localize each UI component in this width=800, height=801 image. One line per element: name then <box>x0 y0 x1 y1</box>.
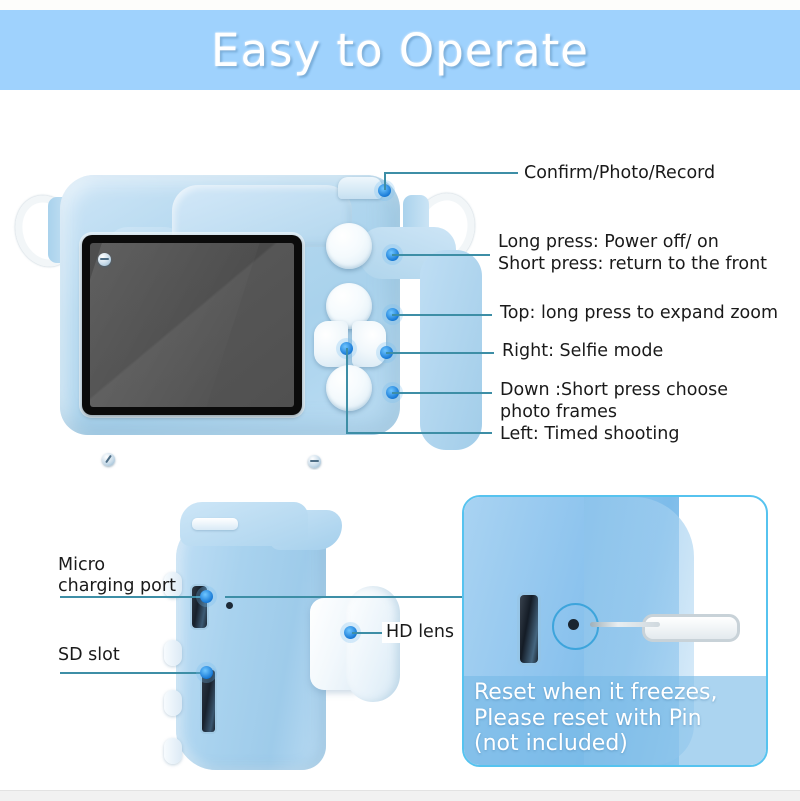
reset-detail-panel: Reset when it freezes, Please reset with… <box>462 495 768 767</box>
side-button-2[interactable] <box>164 640 182 666</box>
body-right-grip <box>420 250 482 450</box>
callout-label-up: Top: long press to expand zoom <box>500 303 778 325</box>
callout-marker-sd-slot <box>200 666 213 679</box>
sd-card-slot <box>202 670 215 732</box>
callout-marker-micro-usb <box>200 590 213 603</box>
screw-bottom-left-icon <box>102 453 115 466</box>
panel-caption-line1: Reset when it freezes, <box>474 680 766 706</box>
callout-label-right: Right: Selfie mode <box>502 341 663 363</box>
camera-back-view <box>8 135 478 455</box>
callout-line-left-v <box>346 348 348 434</box>
panel-caption-line3: (not included) <box>474 731 766 757</box>
panel-caption-line2: Please reset with Pin <box>474 706 766 732</box>
callout-line-left <box>346 432 492 434</box>
callout-label-power-line1: Long press: Power off/ on <box>498 232 767 254</box>
panel-micro-usb-port <box>520 595 538 663</box>
callout-line-shutter-v <box>384 172 386 190</box>
footer-divider <box>0 790 800 801</box>
screw-bottom-right-icon <box>308 455 321 468</box>
callout-line-sd-slot <box>60 672 206 674</box>
camera-side-view <box>150 490 410 790</box>
header-banner: Easy to Operate <box>0 10 800 90</box>
callout-label-power: Long press: Power off/ on Short press: r… <box>498 232 767 276</box>
shutter-button[interactable] <box>338 177 382 199</box>
down-button[interactable] <box>326 365 372 411</box>
callout-label-down-line1: Down :Short press choose <box>500 380 728 402</box>
side-camera-body <box>176 518 326 770</box>
callout-line-power <box>392 254 490 256</box>
reset-pin-tool-icon <box>590 614 740 636</box>
page-title: Easy to Operate <box>211 24 589 77</box>
callout-label-micro-usb-line1: Micro <box>58 555 176 576</box>
callout-line-reset-to-panel <box>225 596 465 598</box>
screw-top-left-icon <box>98 253 111 266</box>
callout-line-right <box>386 352 494 354</box>
callout-line-down <box>392 392 492 394</box>
callout-label-micro-usb-line2: charging port <box>58 576 176 597</box>
callout-label-sd-slot: SD slot <box>58 645 120 666</box>
panel-caption: Reset when it freezes, Please reset with… <box>464 676 766 765</box>
callout-line-micro-usb <box>60 596 206 598</box>
lcd-screen <box>90 243 294 407</box>
callout-label-down: Down :Short press choose photo frames <box>500 380 728 424</box>
callout-label-micro-usb: Micro charging port <box>58 555 176 598</box>
callout-line-shutter <box>384 172 518 174</box>
callout-label-shutter: Confirm/Photo/Record <box>524 163 715 185</box>
callout-label-hd-lens: HD lens <box>382 622 458 643</box>
callout-label-down-line2: photo frames <box>500 402 728 424</box>
side-button-3[interactable] <box>164 690 182 716</box>
reset-hole-icon <box>226 602 233 609</box>
callout-label-power-line2: Short press: return to the front <box>498 254 767 276</box>
side-button-4[interactable] <box>164 738 182 764</box>
callout-label-left: Left: Timed shooting <box>500 424 679 446</box>
power-button[interactable] <box>326 223 372 269</box>
lcd-screen-bezel <box>82 235 302 415</box>
right-button[interactable] <box>352 321 386 367</box>
callout-line-up <box>392 314 492 316</box>
panel-reset-hole-icon <box>568 619 579 630</box>
side-viewfinder <box>192 518 238 530</box>
infographic-stage: Easy to Operate <box>0 0 800 800</box>
hd-lens-ring <box>346 586 400 702</box>
